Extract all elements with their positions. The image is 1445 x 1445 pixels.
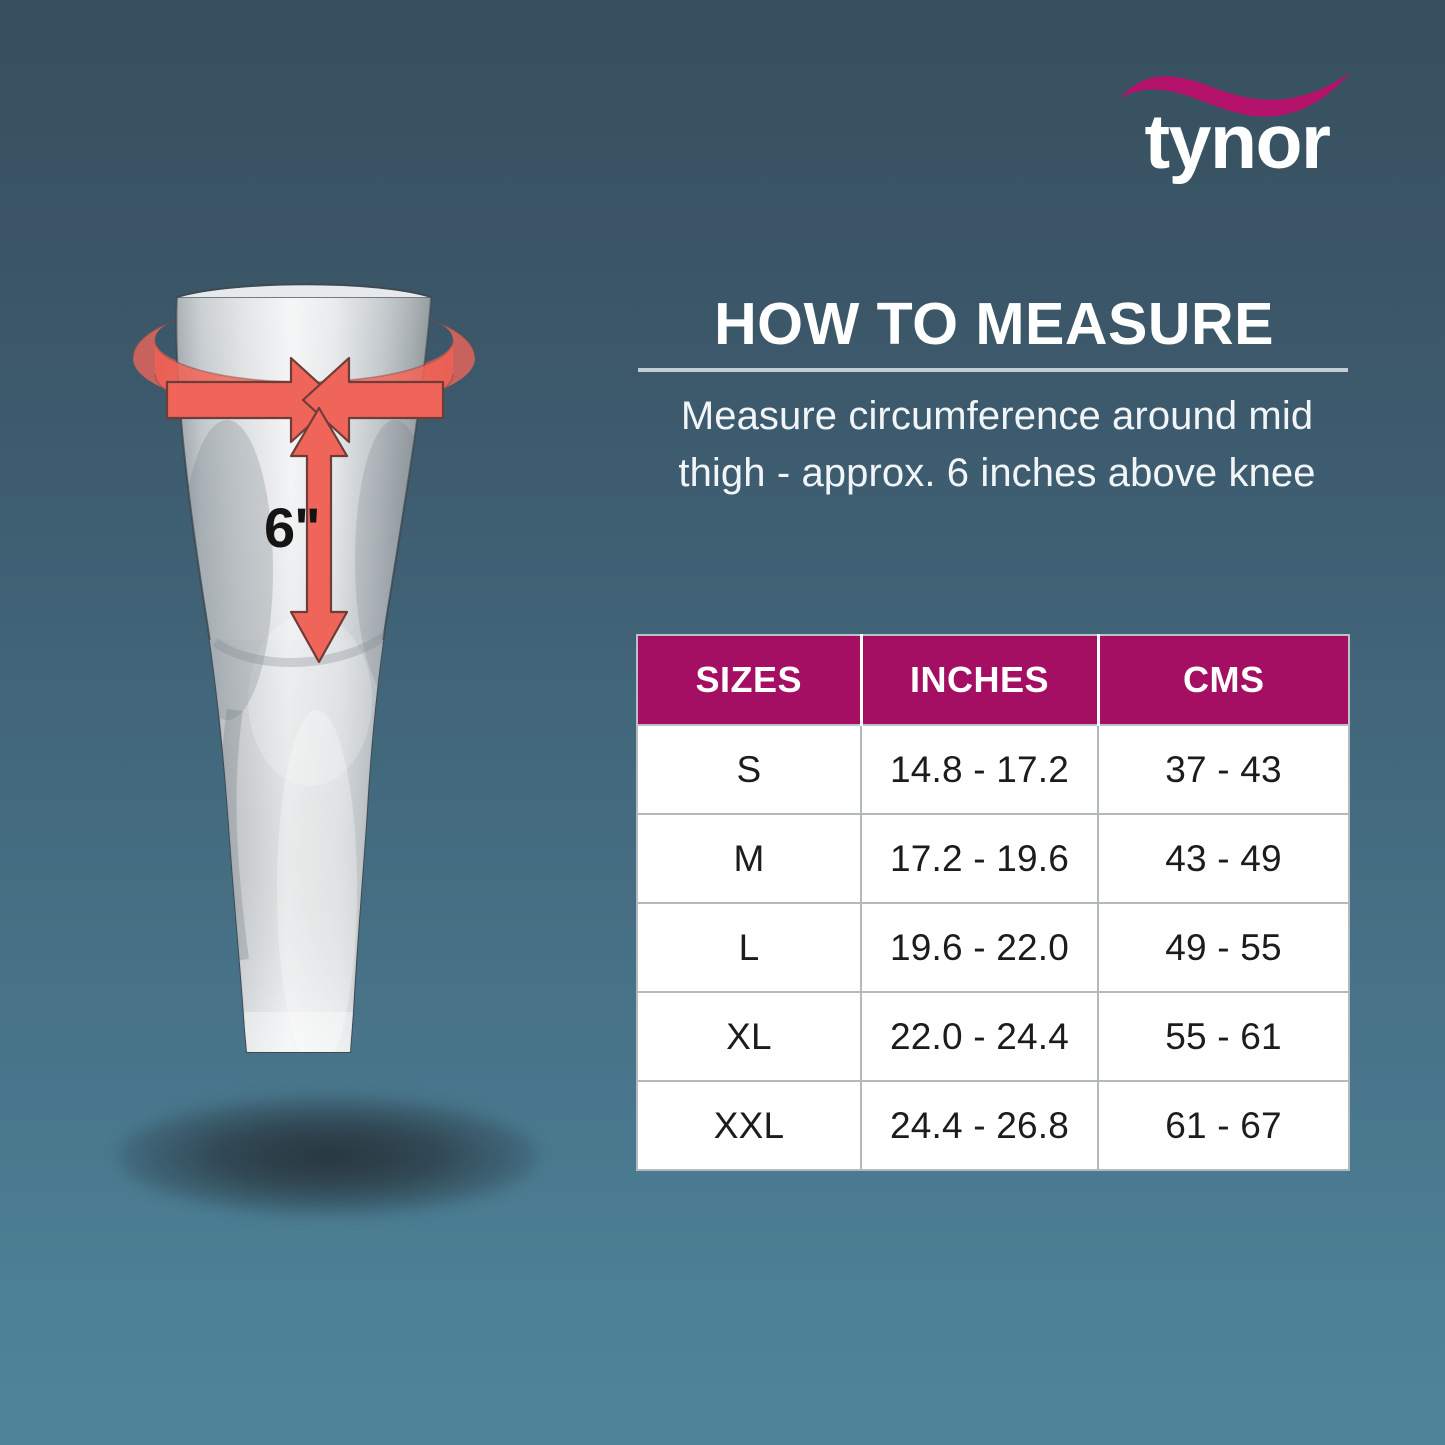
brand-wordmark: tynor [1112, 104, 1362, 181]
size-guide-page: tynor HOW TO MEASURE Measure circumferen… [0, 0, 1445, 1445]
size-chart-table: SIZES INCHES CMS S 14.8 - 17.2 37 - 43 M… [636, 634, 1350, 1171]
table-row: M 17.2 - 19.6 43 - 49 [637, 814, 1349, 903]
cell-size: M [637, 814, 861, 903]
instruction-text: Measure circumference around mid thigh -… [640, 388, 1354, 502]
column-header-sizes: SIZES [637, 635, 861, 725]
cell-cms: 61 - 67 [1098, 1081, 1349, 1170]
leg-illustration [95, 270, 565, 1210]
cell-inches: 22.0 - 24.4 [861, 992, 1098, 1081]
cell-inches: 14.8 - 17.2 [861, 725, 1098, 814]
cell-cms: 37 - 43 [1098, 725, 1349, 814]
title-divider [638, 368, 1348, 372]
cell-cms: 43 - 49 [1098, 814, 1349, 903]
cell-cms: 55 - 61 [1098, 992, 1349, 1081]
table-row: XXL 24.4 - 26.8 61 - 67 [637, 1081, 1349, 1170]
page-title: HOW TO MEASURE [638, 294, 1350, 356]
six-inch-label: 6" [264, 495, 320, 560]
cell-size: L [637, 903, 861, 992]
leg-diagram [95, 270, 565, 1210]
cell-inches: 17.2 - 19.6 [861, 814, 1098, 903]
column-header-cms: CMS [1098, 635, 1349, 725]
cell-cms: 49 - 55 [1098, 903, 1349, 992]
cell-size: XXL [637, 1081, 861, 1170]
cell-size: S [637, 725, 861, 814]
brand-logo: tynor [1112, 58, 1362, 198]
table-row: L 19.6 - 22.0 49 - 55 [637, 903, 1349, 992]
cell-inches: 24.4 - 26.8 [861, 1081, 1098, 1170]
table-row: XL 22.0 - 24.4 55 - 61 [637, 992, 1349, 1081]
table-header-row: SIZES INCHES CMS [637, 635, 1349, 725]
column-header-inches: INCHES [861, 635, 1098, 725]
cell-size: XL [637, 992, 861, 1081]
table-row: S 14.8 - 17.2 37 - 43 [637, 725, 1349, 814]
cell-inches: 19.6 - 22.0 [861, 903, 1098, 992]
